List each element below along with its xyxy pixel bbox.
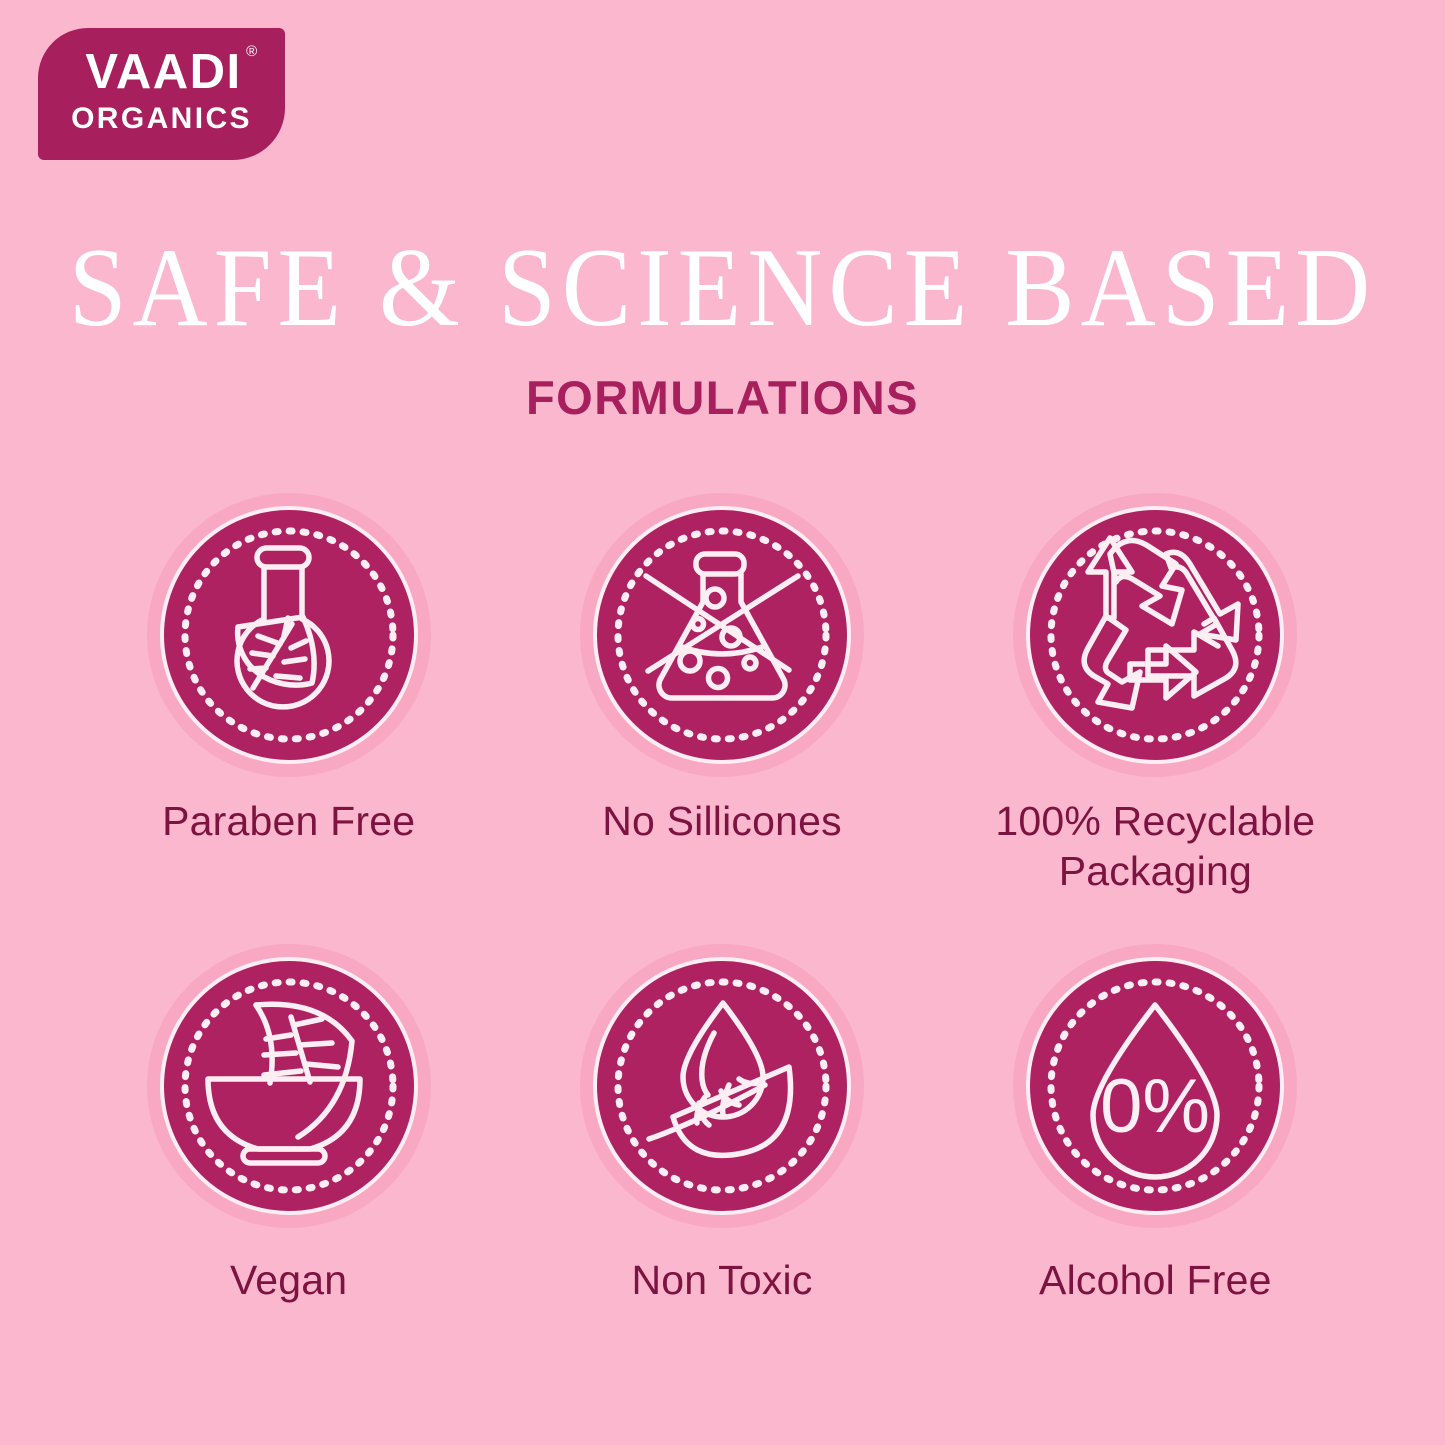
- brand-tagline: ORGANICS: [71, 104, 252, 134]
- feature-item-recyclable-packaging: 100% Recyclable Packaging: [939, 490, 1372, 897]
- crossed-out-conical-flask-icon: [593, 506, 851, 764]
- page-title: SAFE & SCIENCE BASED: [0, 232, 1445, 344]
- feature-item-non-toxic: Non Toxic: [505, 941, 938, 1305]
- feature-item-paraben-free: Paraben Free: [72, 490, 505, 897]
- feature-badge: 0%: [1010, 941, 1300, 1231]
- brand-name: VAADI®: [81, 48, 241, 97]
- brand-logo: VAADI® ORGANICS: [38, 28, 285, 160]
- feature-item-alcohol-free: 0% Alcohol Free: [939, 941, 1372, 1305]
- feature-label: Non Toxic: [631, 1255, 812, 1305]
- feature-label: Paraben Free: [162, 796, 415, 846]
- feature-badge: [577, 490, 867, 780]
- feature-item-no-sillicones: No Sillicones: [505, 490, 938, 897]
- feature-badge: [1010, 490, 1300, 780]
- droplet-zero-percent-icon: 0%: [1026, 957, 1284, 1215]
- feature-badge: [144, 490, 434, 780]
- feature-grid: Paraben Free: [72, 490, 1372, 1305]
- feature-label: Vegan: [230, 1255, 347, 1305]
- round-flask-with-leaf-icon: [160, 506, 418, 764]
- droplet-on-leaf-icon: [593, 957, 851, 1215]
- bowl-with-leaf-icon: [160, 957, 418, 1215]
- feature-label: No Sillicones: [602, 796, 842, 846]
- feature-badge: [144, 941, 434, 1231]
- page-subtitle: FORMULATIONS: [0, 374, 1445, 421]
- feature-badge: [577, 941, 867, 1231]
- droplet-value-text: 0%: [1100, 1064, 1210, 1149]
- feature-label: Alcohol Free: [1039, 1255, 1272, 1305]
- registered-trademark-icon: ®: [246, 44, 259, 59]
- recycling-arrows-icon: [1026, 506, 1284, 764]
- feature-item-vegan: Vegan: [72, 941, 505, 1305]
- feature-label: 100% Recyclable Packaging: [945, 796, 1365, 897]
- brand-name-text: VAADI: [85, 45, 241, 99]
